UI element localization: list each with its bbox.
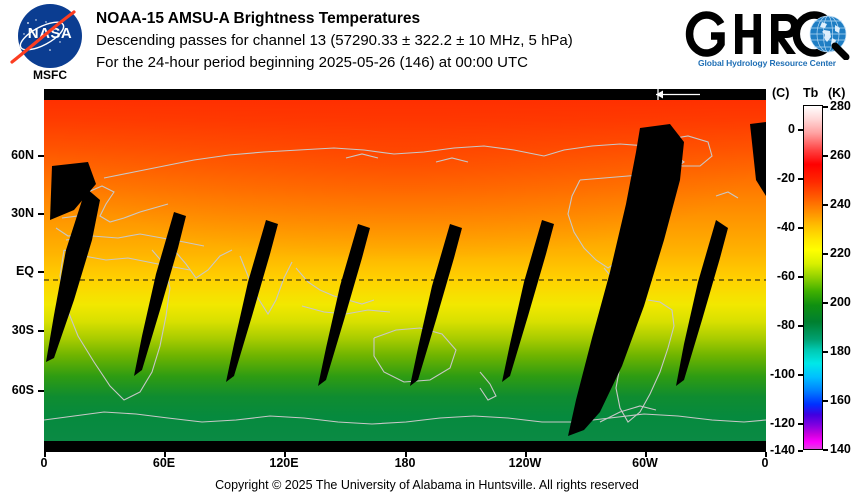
cb-label-k-220: 220 (830, 246, 854, 260)
lat-label-30s: 30S (0, 323, 34, 337)
ghrc-logo: Global Hydrology Resource Center (683, 6, 851, 80)
colorbar-gradient (803, 105, 823, 450)
cb-label-k-160: 160 (830, 393, 854, 407)
colorbar-header-tb: Tb (803, 86, 818, 100)
header: NASA MSFC NOAA-15 AMSU-A Brightness Temp… (0, 0, 854, 88)
cb-tick-c-120 (798, 423, 803, 425)
cb-label-k-200: 200 (830, 295, 854, 309)
lon-label-120e: 120E (260, 456, 308, 470)
cb-label-c-40: -40 (751, 220, 795, 234)
lon-label-360: 0 (745, 456, 785, 470)
cb-tick-c-80 (798, 325, 803, 327)
ghrc-wordmark-icon (683, 8, 851, 60)
lat-tick-30s (38, 330, 44, 332)
lat-label-60s: 60S (0, 383, 34, 397)
title-block: NOAA-15 AMSU-A Brightness Temperatures D… (96, 8, 676, 74)
lon-label-120w: 120W (501, 456, 549, 470)
cb-label-c-100: -100 (747, 367, 795, 381)
cb-tick-c-40 (798, 227, 803, 229)
copyright-notice: Copyright © 2025 The University of Alaba… (0, 478, 854, 492)
cb-tick-k-140 (823, 449, 828, 451)
lat-label-60n: 60N (0, 148, 34, 162)
cb-label-k-140: 140 (830, 442, 854, 456)
nasa-swoosh-icon (8, 8, 80, 66)
chart-subtitle: Descending passes for channel 13 (57290.… (96, 30, 676, 52)
cb-tick-c-100 (798, 374, 803, 376)
swath-data-gaps (44, 100, 766, 441)
lat-tick-60n (38, 155, 44, 157)
lon-label-0: 0 (24, 456, 64, 470)
ghrc-subtitle: Global Hydrology Resource Center (685, 58, 849, 68)
cb-tick-k-240 (823, 204, 828, 206)
cb-tick-c-140 (798, 450, 803, 452)
cb-label-c-60: -60 (751, 269, 795, 283)
cb-label-k-240: 240 (830, 197, 854, 211)
colorbar-header-kelvin: (K) (828, 86, 845, 100)
cb-label-c-80: -80 (751, 318, 795, 332)
lat-tick-eq (38, 271, 44, 273)
cb-tick-k-180 (823, 351, 828, 353)
cb-label-k-180: 180 (830, 344, 854, 358)
chart-period: For the 24-hour period beginning 2025-05… (96, 52, 676, 74)
lon-label-180: 180 (383, 456, 427, 470)
cb-tick-k-220 (823, 253, 828, 255)
colorbar-header-celsius: (C) (772, 86, 789, 100)
colorbar[interactable]: 0 -20 -40 -60 -80 -100 -120 -140 280 260… (803, 105, 823, 450)
lon-label-60w: 60W (625, 456, 665, 470)
map-bottom-band (44, 441, 766, 452)
cb-tick-c-0 (798, 129, 803, 131)
lat-label-30n: 30N (0, 206, 34, 220)
chart-title: NOAA-15 AMSU-A Brightness Temperatures (96, 8, 676, 30)
cb-tick-k-260 (823, 155, 828, 157)
lat-tick-60s (38, 390, 44, 392)
lon-label-60e: 60E (144, 456, 184, 470)
cb-label-k-280: 280 (830, 99, 854, 113)
cb-label-k-260: 260 (830, 148, 854, 162)
cb-label-c-0: 0 (751, 122, 795, 136)
cb-tick-k-280 (823, 106, 828, 108)
nasa-logo: NASA MSFC (10, 4, 90, 84)
cb-label-c-20: -20 (751, 171, 795, 185)
brightness-temperature-map[interactable] (44, 89, 766, 452)
cb-tick-k-160 (823, 400, 828, 402)
descending-pass-direction-arrow (648, 89, 708, 100)
cb-tick-c-20 (798, 178, 803, 180)
nasa-center-label: MSFC (18, 68, 82, 82)
lat-label-eq: EQ (0, 264, 34, 278)
lat-tick-30n (38, 213, 44, 215)
cb-tick-c-60 (798, 276, 803, 278)
temperature-field (44, 100, 766, 441)
cb-label-c-120: -120 (747, 416, 795, 430)
cb-tick-k-200 (823, 302, 828, 304)
